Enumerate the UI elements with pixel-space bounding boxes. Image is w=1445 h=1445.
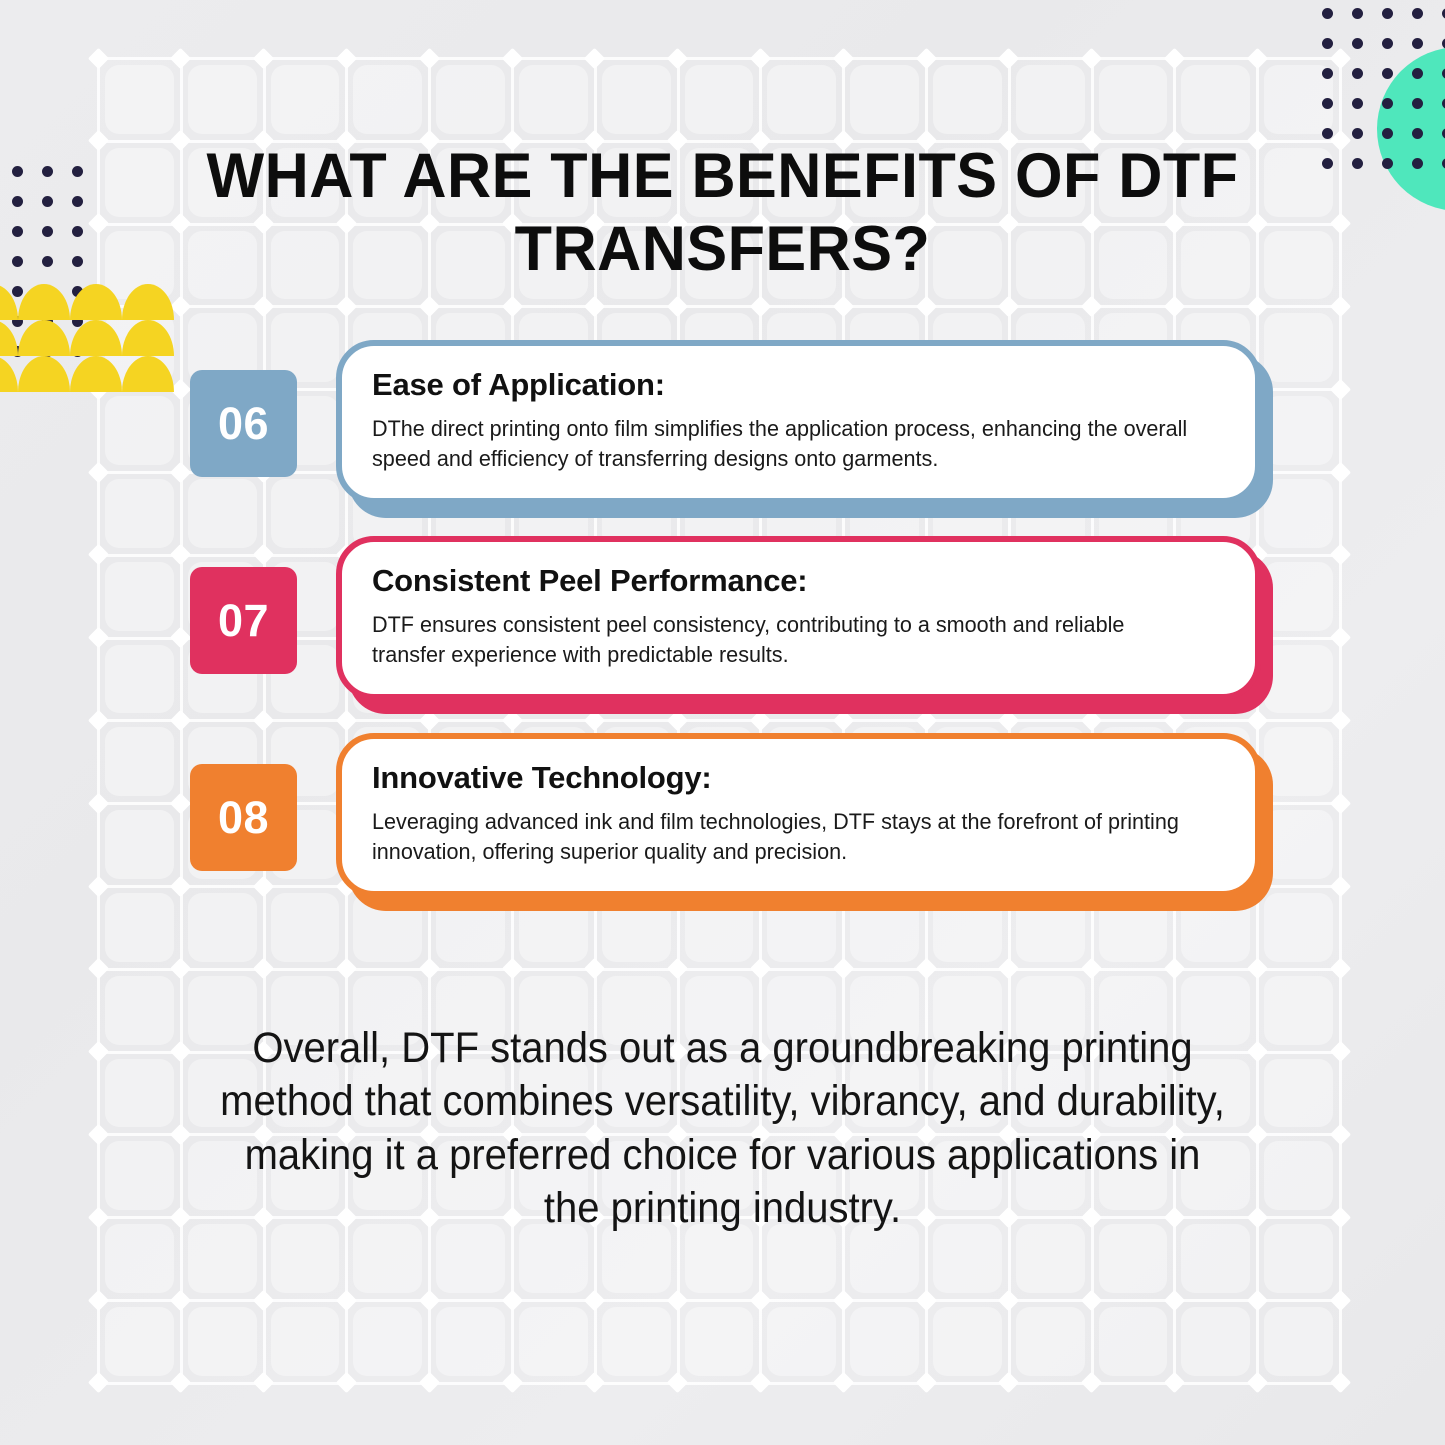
card-title: Ease of Application: xyxy=(372,368,1225,402)
card-number-badge[interactable]: 08 xyxy=(190,764,297,871)
summary-paragraph: Overall, DTF stands out as a groundbreak… xyxy=(218,1022,1227,1235)
card-description: DTF ensures consistent peel consistency,… xyxy=(372,610,1191,670)
card-description: Leveraging advanced ink and film technol… xyxy=(372,807,1191,867)
card-title: Innovative Technology: xyxy=(372,761,1225,795)
card-number-badge[interactable]: 06 xyxy=(190,370,297,477)
card-number-label: 07 xyxy=(218,595,269,647)
card-description: DThe direct printing onto film simplifie… xyxy=(372,414,1191,474)
card-number-badge[interactable]: 07 xyxy=(190,567,297,674)
card-wrapper: Ease of Application:DThe direct printing… xyxy=(336,340,1261,504)
infographic-poster: WHAT ARE THE BENEFITS OF DTF TRANSFERS? … xyxy=(0,0,1445,1445)
benefit-card[interactable]: Innovative Technology:Leveraging advance… xyxy=(336,733,1261,897)
card-wrapper: Consistent Peel Performance:DTF ensures … xyxy=(336,536,1261,700)
card-number-label: 08 xyxy=(218,792,269,844)
benefit-card[interactable]: Consistent Peel Performance:DTF ensures … xyxy=(336,536,1261,700)
card-wrapper: Innovative Technology:Leveraging advance… xyxy=(336,733,1261,897)
benefit-card[interactable]: Ease of Application:DThe direct printing… xyxy=(336,340,1261,504)
card-title: Consistent Peel Performance: xyxy=(372,564,1225,598)
card-number-label: 06 xyxy=(218,398,269,450)
